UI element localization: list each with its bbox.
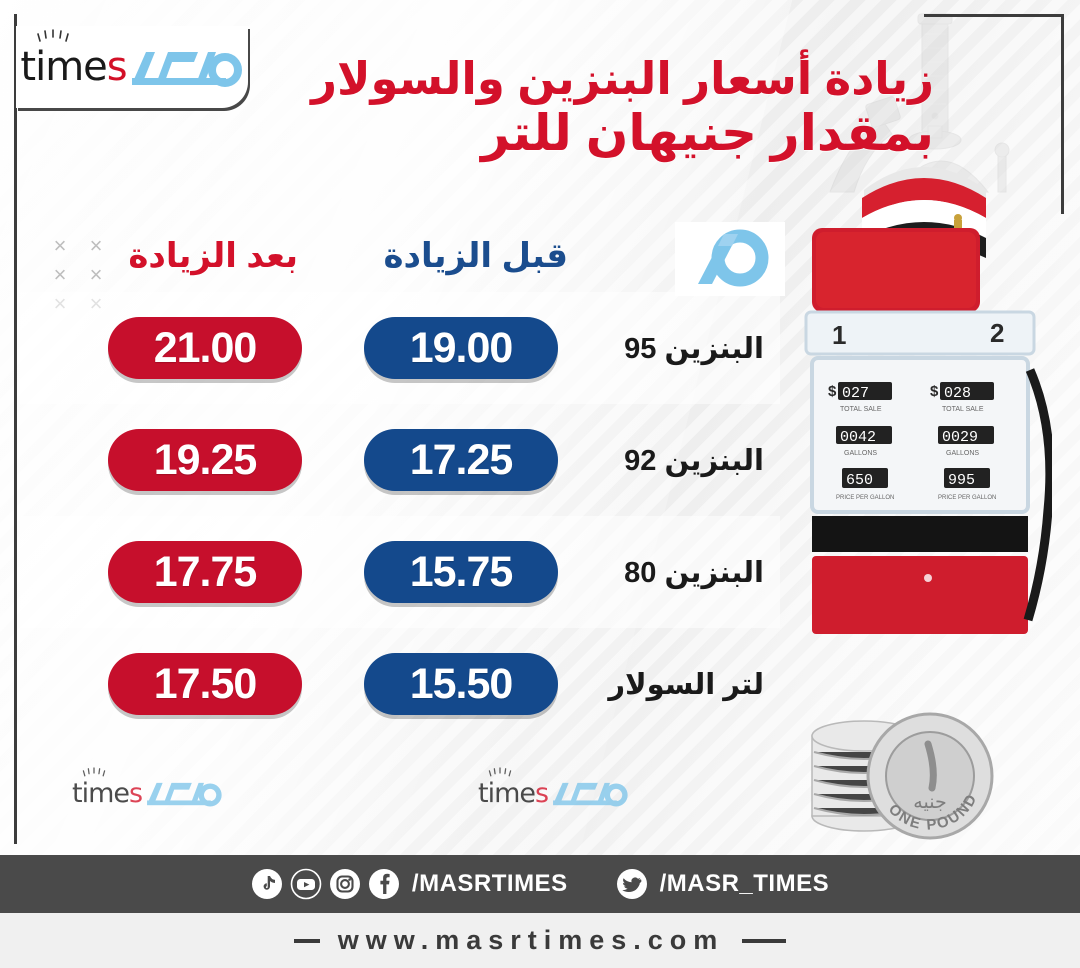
url-dash-left bbox=[294, 939, 320, 943]
svg-text:GALLONS: GALLONS bbox=[946, 450, 979, 457]
x-mark: × bbox=[78, 232, 114, 261]
frame-left-rule bbox=[14, 14, 17, 844]
price-before-badge: 15.75 bbox=[364, 541, 558, 603]
masr-loop-logo-mark bbox=[675, 222, 785, 296]
logo-wordmark: times bbox=[20, 47, 126, 87]
table-row: البنزين 95 19.00 21.00 bbox=[20, 292, 780, 404]
masr-times-logo[interactable]: times bbox=[16, 26, 248, 108]
svg-text:650: 650 bbox=[846, 472, 873, 489]
svg-text:0042: 0042 bbox=[840, 429, 876, 446]
price-after-badge: 19.25 bbox=[108, 429, 302, 491]
masr-loop-icon bbox=[690, 228, 770, 290]
svg-text:TOTAL SALE: TOTAL SALE bbox=[840, 406, 882, 413]
fuel-type-label: البنزين 80 bbox=[572, 555, 770, 590]
svg-text:0029: 0029 bbox=[942, 429, 978, 446]
watermark-logo-left: times bbox=[72, 776, 223, 810]
table-column-headers: × × × × × × بعد الزيادة قبل الزيادة bbox=[20, 226, 780, 292]
price-comparison-table: × × × × × × بعد الزيادة قبل الزيادة البن… bbox=[20, 226, 780, 746]
x-mark: × bbox=[42, 261, 78, 290]
price-after-badge: 17.50 bbox=[108, 653, 302, 715]
fuel-type-label: البنزين 92 bbox=[572, 443, 770, 478]
sparkle-icon bbox=[36, 29, 70, 45]
social-handle-twitter[interactable]: /MASR_TIMES bbox=[660, 870, 830, 898]
tiktok-icon[interactable] bbox=[251, 868, 283, 900]
nozzle-label-2: 2 bbox=[990, 318, 1004, 348]
infographic-poster: times زيادة أسعار البنزين والسولار بمقدا… bbox=[0, 0, 1080, 968]
logo-lockup: times bbox=[20, 42, 243, 92]
url-dash-right bbox=[742, 939, 786, 943]
watermark-logo-center: times bbox=[478, 776, 629, 810]
fuel-type-label: البنزين 95 bbox=[572, 331, 770, 366]
fuel-pump-illustration: 1 2 $ 027 TOTAL SALE 0042 GALLONS 650 PR… bbox=[802, 120, 1052, 640]
x-mark: × bbox=[78, 261, 114, 290]
table-row: لتر السولار 15.50 17.50 bbox=[20, 628, 780, 740]
table-rows: البنزين 95 19.00 21.00 البنزين 92 17.25 … bbox=[20, 292, 780, 740]
svg-text:027: 027 bbox=[842, 385, 869, 402]
masr-arabic-logo-mark bbox=[549, 776, 629, 810]
masr-arabic-logo-mark bbox=[143, 776, 223, 810]
sparkle-icon bbox=[488, 767, 512, 779]
twitter-icon[interactable] bbox=[616, 868, 648, 900]
price-after-badge: 21.00 bbox=[108, 317, 302, 379]
svg-text:PRICE PER GALLON: PRICE PER GALLON bbox=[938, 495, 996, 501]
svg-text:995: 995 bbox=[948, 472, 975, 489]
logo-wordmark: times bbox=[72, 780, 142, 807]
website-url-bar: www.masrtimes.com bbox=[0, 913, 1080, 968]
facebook-icon[interactable] bbox=[368, 868, 400, 900]
instagram-icon[interactable] bbox=[329, 868, 361, 900]
fuel-type-label: لتر السولار bbox=[572, 667, 770, 702]
coin-arabic-text: جنيه bbox=[913, 791, 946, 813]
price-before-badge: 15.50 bbox=[364, 653, 558, 715]
website-url[interactable]: www.masrtimes.com bbox=[338, 925, 725, 956]
column-header-after: بعد الزيادة bbox=[128, 236, 298, 276]
svg-text:$: $ bbox=[930, 383, 939, 400]
logo-lockup: times bbox=[478, 776, 629, 810]
frame-top-rule bbox=[924, 14, 1064, 17]
svg-text:028: 028 bbox=[944, 385, 971, 402]
headline-line-1: زيادة أسعار البنزين والسولار bbox=[244, 56, 934, 103]
logo-lockup: times bbox=[72, 776, 223, 810]
nozzle-label-1: 1 bbox=[832, 320, 846, 350]
frame-right-rule bbox=[1061, 14, 1064, 214]
masr-arabic-logo-mark bbox=[126, 42, 244, 92]
svg-text:TOTAL SALE: TOTAL SALE bbox=[942, 406, 984, 413]
egyptian-pound-coins: جنيه ONE POUND bbox=[792, 640, 1022, 855]
price-before-badge: 17.25 bbox=[364, 429, 558, 491]
pump-hose bbox=[1028, 370, 1050, 620]
svg-text:GALLONS: GALLONS bbox=[844, 450, 877, 457]
social-group-primary: /MASRTIMES bbox=[251, 868, 568, 900]
x-mark: × bbox=[42, 232, 78, 261]
pump-lower-body bbox=[812, 556, 1028, 634]
pump-dark-panel bbox=[812, 516, 1028, 552]
sparkle-icon bbox=[82, 767, 106, 779]
svg-text:PRICE PER GALLON: PRICE PER GALLON bbox=[836, 495, 894, 501]
social-handle-primary[interactable]: /MASRTIMES bbox=[412, 870, 568, 898]
table-row: البنزين 80 15.75 17.75 bbox=[20, 516, 780, 628]
social-group-twitter: /MASR_TIMES bbox=[616, 868, 830, 900]
social-footer-bar: /MASRTIMES /MASR_TIMES bbox=[0, 855, 1080, 913]
svg-text:$: $ bbox=[828, 383, 837, 400]
logo-wordmark: times bbox=[478, 780, 548, 807]
column-header-before: قبل الزيادة bbox=[383, 236, 568, 276]
one-pound-coin-icon: جنيه ONE POUND bbox=[868, 714, 992, 838]
price-before-badge: 19.00 bbox=[364, 317, 558, 379]
price-after-badge: 17.75 bbox=[108, 541, 302, 603]
youtube-icon[interactable] bbox=[290, 868, 322, 900]
table-row: البنزين 92 17.25 19.25 bbox=[20, 404, 780, 516]
